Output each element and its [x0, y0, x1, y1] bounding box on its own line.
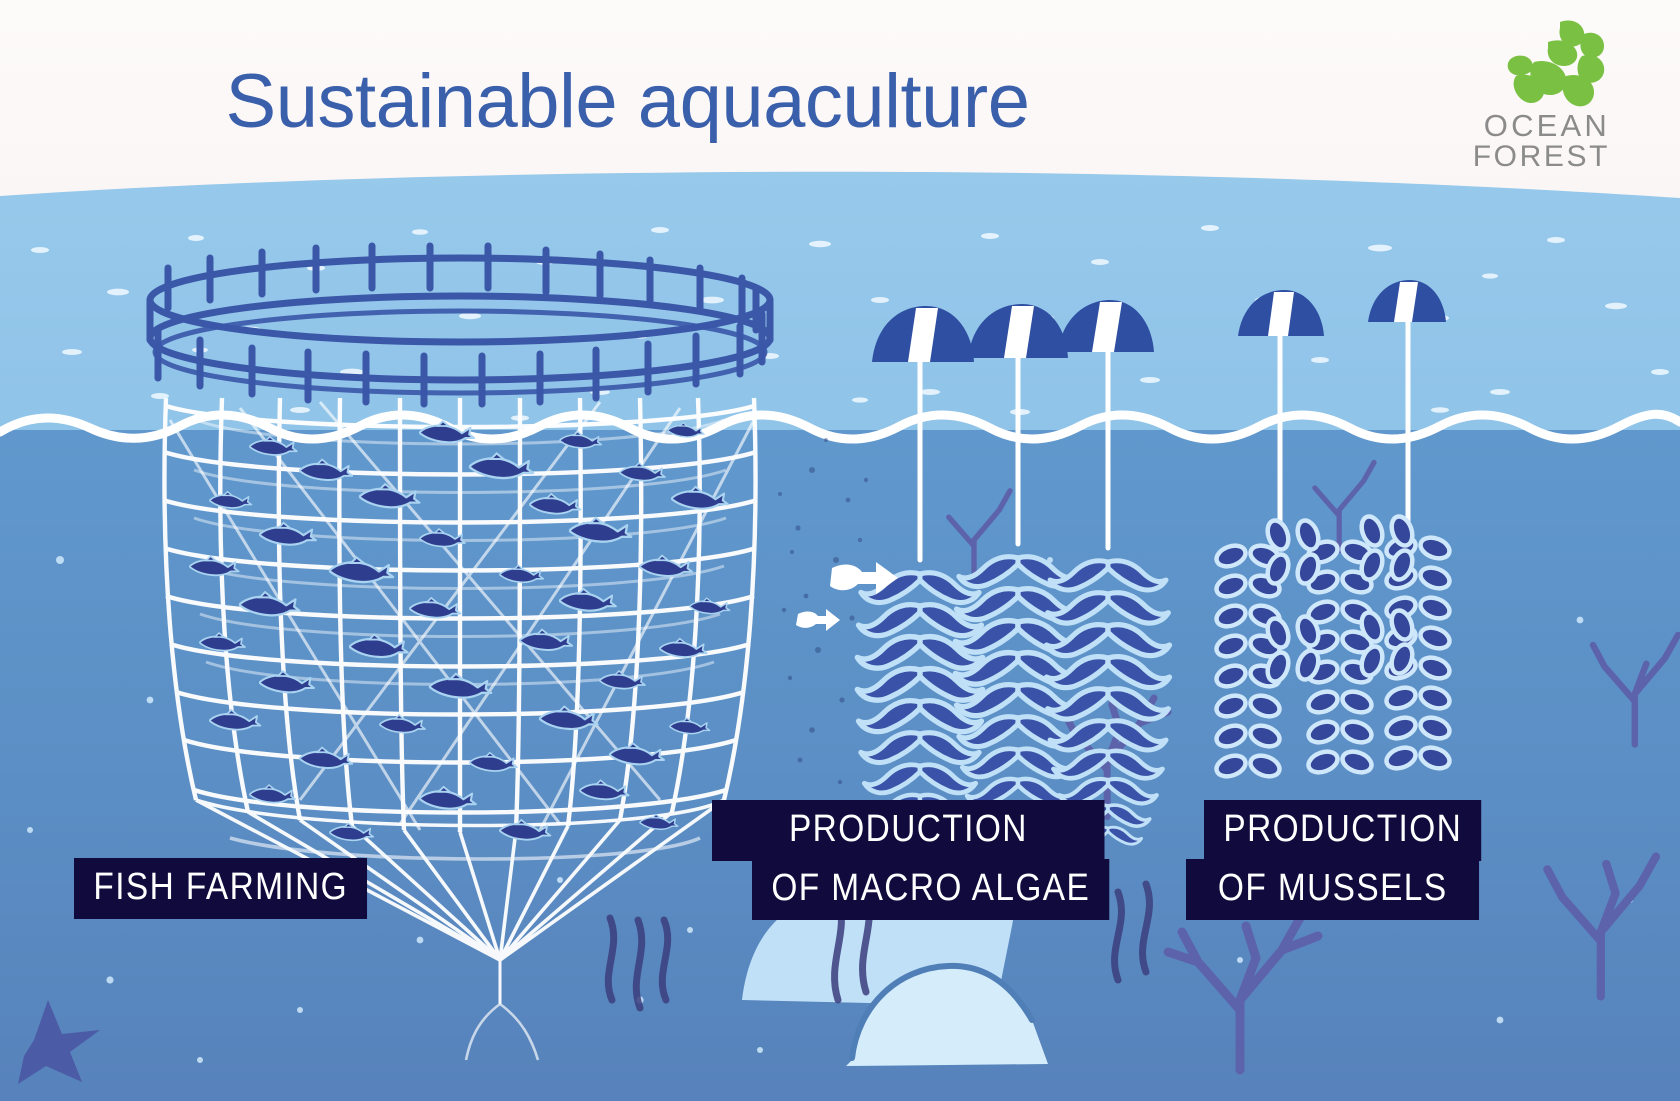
logo-line-2: FOREST [1440, 142, 1610, 173]
label-mussels-line-1: PRODUCTION [1204, 800, 1482, 861]
logo[interactable]: OCEAN FOREST [1440, 18, 1610, 188]
header: Sustainable aquaculture OCEAN FOREST [0, 0, 1680, 200]
label-macro-algae-line-1: PRODUCTION [712, 800, 1105, 861]
label-fish-farming: FISH FARMING [74, 858, 407, 919]
label-macro-algae-line-2: OF MACRO ALGAE [752, 859, 1110, 920]
page-title: Sustainable aquaculture [0, 58, 1255, 145]
logo-line-1: OCEAN [1440, 110, 1610, 142]
label-fish-farming-line-1: FISH FARMING [74, 858, 367, 919]
label-macro-algae: PRODUCTION OF MACRO ALGAE [712, 800, 1158, 920]
seaweed-kelp-icon [1498, 18, 1608, 110]
label-mussels-line-2: OF MUSSELS [1186, 859, 1479, 920]
infographic-canvas: Sustainable aquaculture OCEAN FOREST [0, 0, 1680, 1101]
label-mussels: PRODUCTION OF MUSSELS [1186, 800, 1519, 920]
logo-wordmark: OCEAN FOREST [1440, 110, 1610, 172]
